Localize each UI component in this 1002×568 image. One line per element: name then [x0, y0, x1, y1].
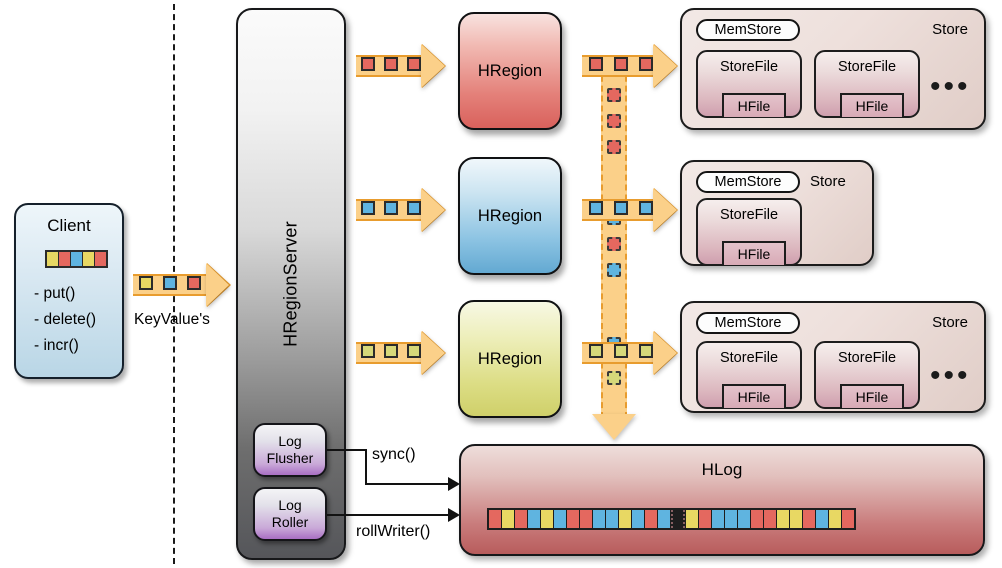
storefile-box[interactable]: StoreFile HFile: [696, 341, 802, 409]
client-title: Client: [16, 216, 122, 236]
hfile-box[interactable]: HFile: [722, 384, 786, 408]
arrow-cell: [589, 57, 603, 71]
hregion-box-row2[interactable]: HRegion: [458, 157, 562, 275]
arrow-cell: [384, 57, 398, 71]
storefile-box[interactable]: StoreFile HFile: [814, 341, 920, 409]
sync-line-segment-3: [365, 483, 449, 485]
flush-channel-arrowhead: [592, 414, 636, 440]
arrow-cell: [589, 201, 603, 215]
keyvalue-cell: [83, 252, 94, 266]
arrow-cell: [639, 57, 653, 71]
arrow-cells: [139, 276, 201, 290]
arrow-cell: [139, 276, 153, 290]
log-roller-box[interactable]: Log Roller: [253, 487, 327, 541]
arrow-head: [653, 331, 677, 375]
hlog-cell: [686, 510, 698, 528]
hlog-box[interactable]: HLog: [459, 444, 985, 556]
hbase-architecture-diagram: Client - put() - delete() - incr() KeyVa…: [0, 0, 1002, 568]
hlog-cell: [554, 510, 566, 528]
arrow-cell: [361, 344, 375, 358]
arrow-cells: [589, 57, 653, 71]
hlog-cell: [502, 510, 514, 528]
arrow-cells: [589, 344, 653, 358]
hlog-cell: [658, 510, 670, 528]
arrow-cell: [163, 276, 177, 290]
hlog-cell: [712, 510, 724, 528]
log-roller-label-line1: Log: [278, 497, 301, 514]
arrow-head: [653, 188, 677, 232]
hregion-label: HRegion: [478, 207, 542, 226]
store-in-arrow-row3: [582, 331, 682, 375]
store-in-arrow-row2: [582, 188, 682, 232]
client-keyvalue-strip: [45, 250, 108, 268]
hlog-cell: [580, 510, 592, 528]
store-label-row1: Store: [932, 21, 968, 38]
rollwriter-line: [327, 514, 449, 516]
client-method-delete: - delete(): [34, 307, 96, 333]
arrow-cells: [361, 344, 421, 358]
storefile-box[interactable]: StoreFile HFile: [814, 50, 920, 118]
hlog-cell: [606, 510, 618, 528]
hlog-cell: [777, 510, 789, 528]
hregion-label: HRegion: [478, 350, 542, 369]
log-roller-label-line2: Roller: [272, 514, 309, 531]
arrow-cell: [614, 201, 628, 215]
storefile-label: StoreFile: [698, 350, 800, 366]
sync-line-segment-2: [365, 449, 367, 485]
log-flusher-label-line1: Log: [278, 433, 301, 450]
hlog-cell: [632, 510, 644, 528]
keyvalue-cell: [59, 252, 70, 266]
arrow-head: [421, 331, 445, 375]
arrow-cell: [639, 344, 653, 358]
hlog-cell: [751, 510, 763, 528]
flush-cell: [607, 140, 621, 154]
client-method-incr: - incr(): [34, 333, 96, 359]
hfile-box[interactable]: HFile: [840, 384, 904, 408]
hlog-cell: [842, 510, 854, 528]
client-method-put: - put(): [34, 281, 96, 307]
hfile-box[interactable]: HFile: [840, 93, 904, 117]
hlog-cell: [699, 510, 711, 528]
arrow-cell: [614, 57, 628, 71]
arrow-cells: [361, 201, 421, 215]
store-box-row3[interactable]: MemStore Store StoreFile HFile StoreFile…: [680, 301, 986, 413]
flush-cell: [607, 114, 621, 128]
storefile-label: StoreFile: [816, 59, 918, 75]
keyvalue-arrow-caption: KeyValue's: [134, 311, 210, 329]
store-box-row2[interactable]: MemStore Store StoreFile HFile: [680, 160, 874, 266]
arrow-cell: [361, 57, 375, 71]
memstore-pill-row1[interactable]: MemStore: [696, 19, 800, 41]
arrow-cell: [187, 276, 201, 290]
arrow-cell: [639, 201, 653, 215]
keyvalue-cell: [95, 252, 106, 266]
arrow-cell: [361, 201, 375, 215]
hlog-cell: [764, 510, 776, 528]
storefile-ellipsis-row3: •••: [930, 361, 971, 391]
arrow-head: [421, 44, 445, 88]
storefile-label: StoreFile: [698, 59, 800, 75]
arrow-head: [206, 263, 229, 307]
arrow-cells: [589, 201, 653, 215]
log-flusher-label-line2: Flusher: [267, 450, 314, 467]
hlog-cell: [725, 510, 737, 528]
arrow-cell: [384, 344, 398, 358]
hfile-box[interactable]: HFile: [722, 93, 786, 117]
hlog-cell: [803, 510, 815, 528]
hlog-cell: [619, 510, 631, 528]
hlog-cell: [738, 510, 750, 528]
hregion-box-row3[interactable]: HRegion: [458, 300, 562, 418]
storefile-box[interactable]: StoreFile HFile: [696, 198, 802, 266]
hregion-label: HRegion: [478, 62, 542, 81]
hlog-cell: [593, 510, 605, 528]
storefile-box[interactable]: StoreFile HFile: [696, 50, 802, 118]
sync-line-segment-1: [327, 449, 367, 451]
hlog-cell: [489, 510, 501, 528]
storefile-ellipsis-row1: •••: [930, 72, 971, 102]
arrow-cell: [384, 201, 398, 215]
hlog-entries-strip: [487, 508, 856, 530]
arrow-head: [653, 44, 677, 88]
hlog-cell: [515, 510, 527, 528]
memstore-pill-row3[interactable]: MemStore: [696, 312, 800, 334]
hregionserver-label: HRegionServer: [281, 221, 302, 347]
arrow-head: [421, 188, 445, 232]
store-label-row2: Store: [810, 173, 846, 190]
hfile-box[interactable]: HFile: [722, 241, 786, 265]
hlog-cell: [829, 510, 841, 528]
hregion-box-row1[interactable]: HRegion: [458, 12, 562, 130]
rollwriter-label: rollWriter(): [356, 523, 430, 541]
region-in-arrow-row3: [356, 331, 446, 375]
memstore-pill-row2[interactable]: MemStore: [696, 171, 800, 193]
log-flusher-box[interactable]: Log Flusher: [253, 423, 327, 477]
arrow-cell: [407, 201, 421, 215]
arrow-cell: [614, 344, 628, 358]
flush-cell: [607, 237, 621, 251]
arrow-cell: [589, 344, 603, 358]
store-label-row3: Store: [932, 314, 968, 331]
arrow-cell: [407, 57, 421, 71]
hlog-cell: [645, 510, 657, 528]
store-in-arrow-row1: [582, 44, 682, 88]
flush-cell: [607, 263, 621, 277]
storefile-label: StoreFile: [698, 207, 800, 223]
keyvalue-cell: [47, 252, 58, 266]
keyvalue-arrow: [133, 263, 233, 307]
hlog-cell: [790, 510, 802, 528]
hlog-title: HLog: [461, 460, 983, 480]
client-methods: - put() - delete() - incr(): [34, 281, 96, 359]
store-box-row1[interactable]: MemStore Store StoreFile HFile StoreFile…: [680, 8, 986, 130]
flush-cell: [607, 88, 621, 102]
storefile-label: StoreFile: [816, 350, 918, 366]
hregionserver-box[interactable]: HRegionServer: [236, 8, 346, 560]
client-box[interactable]: Client - put() - delete() - incr(): [14, 203, 124, 379]
hlog-cell: [528, 510, 540, 528]
hlog-cell: [816, 510, 828, 528]
hlog-cell-gap: [671, 510, 685, 528]
hlog-cell: [541, 510, 553, 528]
hlog-cell: [567, 510, 579, 528]
region-in-arrow-row2: [356, 188, 446, 232]
arrow-cells: [361, 57, 421, 71]
region-in-arrow-row1: [356, 44, 446, 88]
keyvalue-cell: [71, 252, 82, 266]
sync-label: sync(): [372, 446, 416, 464]
arrow-cell: [407, 344, 421, 358]
